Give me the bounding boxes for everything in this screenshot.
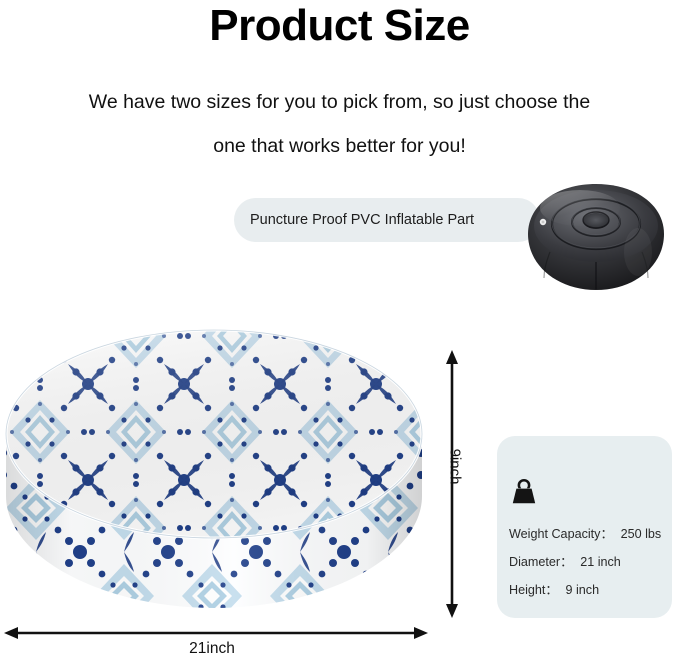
spec-value-diameter: 21 inch [580,555,621,569]
spec-value-height: 9 inch [566,583,600,597]
spec-row-weight-capacity: Weight Capacity： 250 lbs [509,526,661,542]
spec-label-diameter: Diameter： [509,555,573,569]
page-title-text: Product Size [209,1,470,50]
weight-icon [509,476,539,506]
spec-row-height: Height： 9 inch [509,582,599,598]
highlight-dot-icon [540,219,546,225]
height-dimension-arrow: 9inch [432,348,474,620]
subtitle: We have two sizes for you to pick from, … [22,80,657,168]
subtitle-line-1: We have two sizes for you to pick from, … [89,91,590,113]
page-title: Product Size [0,2,679,50]
spec-label-height: Height： [509,583,558,597]
patterned-ottoman-image [0,288,432,620]
spec-value-weight-capacity: 250 lbs [621,527,662,541]
height-dimension-label: 9inch [447,422,464,512]
black-inflatable-product-image [520,160,672,312]
callout-pill: Puncture Proof PVC Inflatable Part [234,198,540,242]
spec-row-diameter: Diameter： 21 inch [509,554,621,570]
callout-pill-label: Puncture Proof PVC Inflatable Part [250,198,474,242]
spec-label-weight-capacity: Weight Capacity： [509,527,613,541]
width-dimension-arrow: 21inch [0,622,432,666]
width-dimension-label: 21inch [0,640,424,658]
spec-card: Weight Capacity： 250 lbs Diameter： 21 in… [497,436,672,618]
